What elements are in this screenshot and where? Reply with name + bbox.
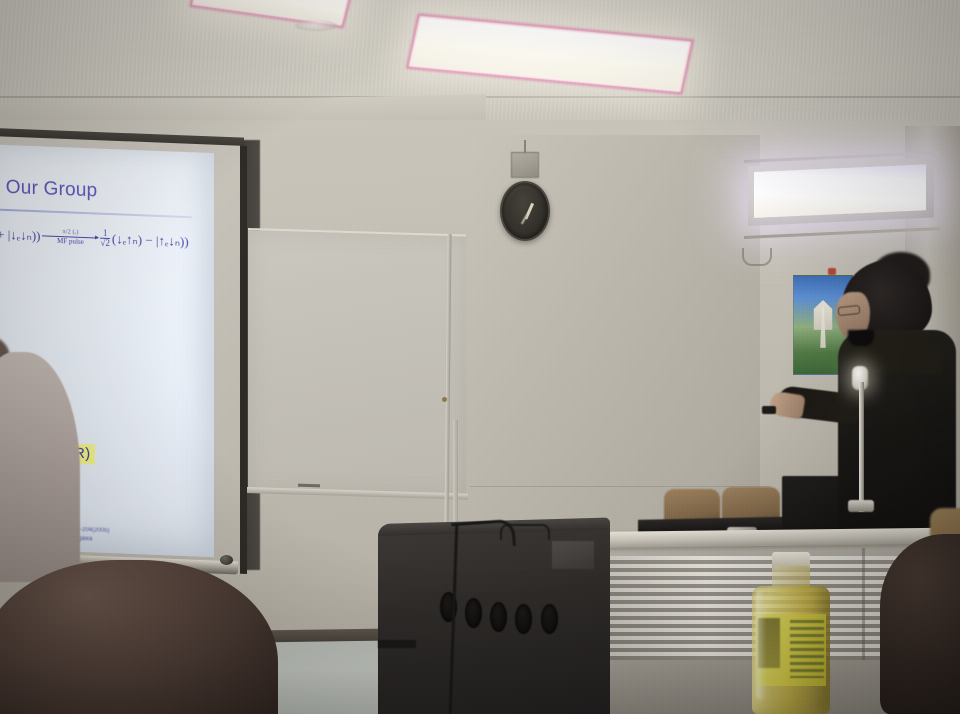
formula-left-term: ↓ₑ↑ₙ) + |↓ₑ↓ₙ)) [0,225,40,244]
bottle-label-text-block [790,620,824,678]
whiteboard [248,228,466,498]
formula-fraction-denominator: √2 [100,238,109,248]
slide-divider-rule [0,208,192,218]
whiteboard-screw [442,397,447,402]
wall-clock [500,181,550,241]
formula-transition-arrow: π/2 (ₑ) MF pulse [42,227,98,247]
window-hook [742,248,772,266]
wall-speaker-box [511,152,539,178]
formula-fraction-numerator: 1 [103,229,108,238]
presenter-collar [848,330,874,346]
formula-arrow-above-label: π/2 (ₑ) [62,228,78,236]
smoke-detector-icon [295,20,337,31]
slide-formula: ↓ₑ↑ₙ) + |↓ₑ↓ₙ)) π/2 (ₑ) MF pulse 1 √2 (↓… [0,223,198,251]
equipment-case-strap [378,640,416,648]
formula-right-term: (↓ₑ↑ₙ) − |↑ₑ↓ₙ)) [112,231,189,250]
clock-face [507,188,543,234]
equipment-case-plate [552,541,594,569]
clock-hour-hand [521,215,528,225]
microphone-stand-base [848,500,874,512]
equipment-case-vent [515,604,532,634]
formula-fraction: 1 √2 [100,229,109,248]
whiteboard-pole [453,420,458,535]
projection-screen-knob [220,555,233,565]
lecture-room-photograph: h : and Our Group ↓ₑ↑ₙ) + |↓ₑ↓ₙ)) π/2 (ₑ… [0,0,960,714]
cable-loop [451,519,516,550]
equipment-case-vent [490,602,507,632]
formula-arrow-below-label: MF pulse [57,238,84,247]
picture-red-marker [828,268,836,275]
whiteboard-marker [298,484,320,488]
wall-panel-line [470,486,770,487]
bottle-highlight [756,590,766,700]
clerestory-window-glass [754,164,926,218]
equipment-case-vent [541,604,558,634]
microphone-stand-pole [859,382,864,512]
presenter-remote [762,406,776,414]
equipment-case-vent [465,598,482,628]
slide-title-line2: and Our Group [0,175,97,202]
